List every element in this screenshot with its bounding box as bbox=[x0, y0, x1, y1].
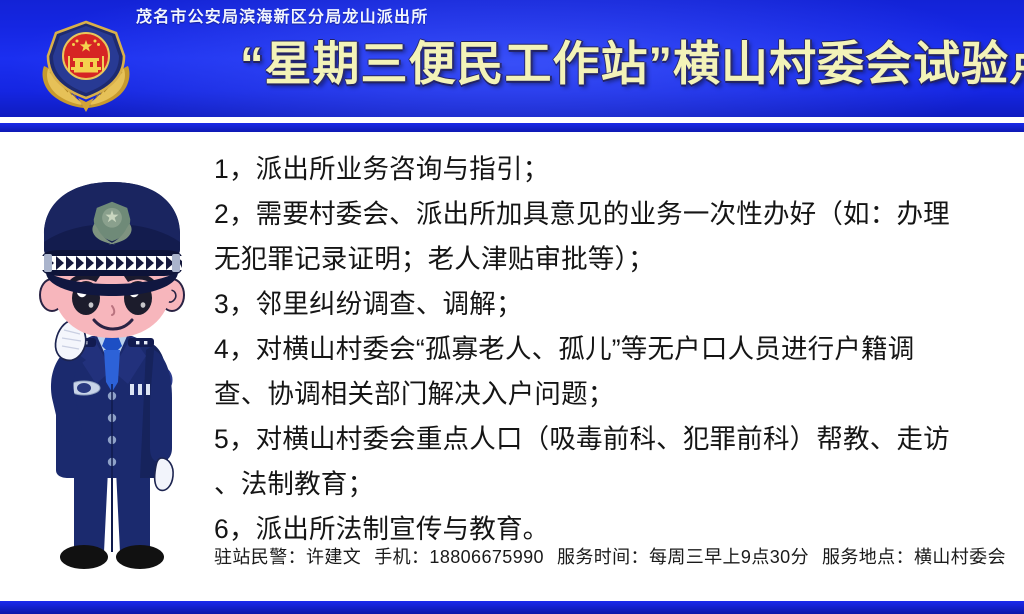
officer-name: 许建文 bbox=[306, 547, 361, 567]
content-area: 1，派出所业务咨询与指引； 2，需要村委会、派出所加具意见的业务一次性办好（如：… bbox=[0, 139, 1024, 601]
saluting-policeman-illustration bbox=[12, 170, 212, 582]
organization-name: 茂名市公安局滨海新区分局龙山派出所 bbox=[136, 3, 428, 27]
separator-blue-stripe bbox=[0, 123, 1024, 132]
bottom-blue-bar bbox=[0, 601, 1024, 614]
service-place-value: 横山村委会 bbox=[914, 547, 1006, 567]
service-place-label: 服务地点： bbox=[822, 547, 914, 567]
service-time-label: 服务时间： bbox=[557, 547, 649, 567]
phone-label: 手机： bbox=[374, 547, 429, 567]
phone-number: 18806675990 bbox=[429, 547, 544, 567]
service-item-5: 5，对横山村委会重点人口（吸毒前科、犯罪前科）帮教、走访 bbox=[214, 417, 1020, 462]
service-item-5-cont: 、法制教育； bbox=[214, 462, 1020, 507]
service-item-2-cont: 无犯罪记录证明；老人津贴审批等）； bbox=[214, 237, 1020, 282]
service-item-4-cont: 查、协调相关部门解决入户问题； bbox=[214, 372, 1020, 417]
service-item-4: 4，对横山村委会“孤寡老人、孤儿”等无户口人员进行户籍调 bbox=[214, 327, 1020, 372]
separator-white-bottom bbox=[0, 132, 1024, 139]
service-item-1: 1，派出所业务咨询与指引； bbox=[214, 147, 1020, 192]
page-title: “星期三便民工作站”横山村委会试验点服务项目 bbox=[240, 34, 1012, 94]
service-items-list: 1，派出所业务咨询与指引； 2，需要村委会、派出所加具意见的业务一次性办好（如：… bbox=[214, 147, 1020, 552]
footer-contact-line: 驻站民警：许建文手机：18806675990服务时间：每周三早上9点30分服务地… bbox=[214, 543, 1006, 569]
officer-label: 驻站民警： bbox=[214, 547, 306, 567]
police-badge-icon bbox=[38, 20, 134, 112]
service-time-value: 每周三早上9点30分 bbox=[649, 547, 809, 567]
poster-root: 茂名市公安局滨海新区分局龙山派出所 “星期三便民工作站”横山村委会试验点服务项目 bbox=[0, 0, 1024, 614]
service-item-2: 2，需要村委会、派出所加具意见的业务一次性办好（如：办理 bbox=[214, 192, 1020, 237]
service-item-3: 3，邻里纠纷调查、调解； bbox=[214, 282, 1020, 327]
